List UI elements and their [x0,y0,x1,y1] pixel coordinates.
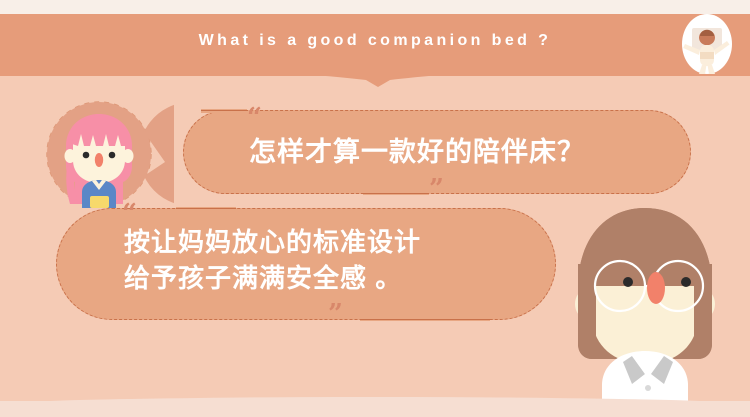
bottom-surface-band [0,401,750,417]
bubble-question-text: 怎样才算一款好的陪伴床？ [249,130,585,169]
close-quote-icon: ” [429,176,444,202]
open-quote-icon: “ [247,105,262,131]
page-title: What is a good companion bed ? [0,28,750,54]
quote-bubble-answer: “ ” 按让妈妈放心的标准设计 给予孩子满满安全感 。 [56,208,556,320]
bubble-border-segment [201,110,247,111]
baby-lying-icon [680,12,734,76]
quote-bubble-question: “ ” 怎样才算一款好的陪伴床？ [183,110,691,194]
bubble-border-segment [176,208,236,209]
illustration-canvas: What is a good companion bed ? [0,0,750,417]
woman-with-glasses-icon [540,196,750,417]
bubble-answer-text: 按让妈妈放心的标准设计 给予孩子满满安全感 。 [124,224,544,296]
top-strip [0,0,750,14]
bubble-answer-line1: 按让妈妈放心的标准设计 [124,227,421,257]
girl-avatar-icon [44,100,174,208]
bubble-answer-line2: 给予孩子满满安全感 。 [124,263,402,293]
close-quote-icon: ” [328,301,343,327]
bubble-border-segment [363,193,429,194]
bubble-border-segment [360,319,490,320]
